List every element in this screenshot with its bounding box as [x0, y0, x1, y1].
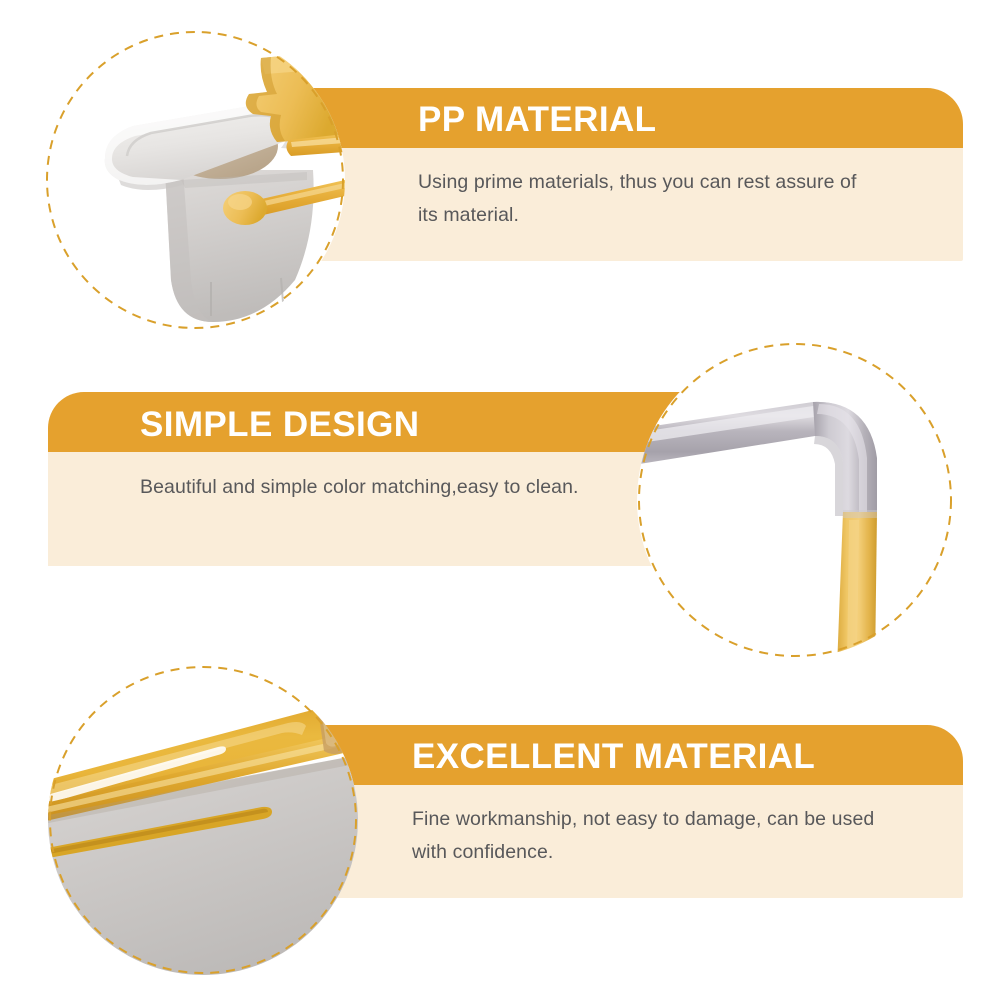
feature-title-excellent-material: EXCELLENT MATERIAL [412, 739, 815, 774]
photo-clip-mask [48, 665, 358, 975]
feature-description-simple-design: Beautiful and simple color matching,easy… [140, 471, 580, 504]
photo-clip-mask [45, 30, 345, 330]
product-photo-yellow-grey-edge [48, 665, 358, 975]
infographic-canvas: PP MATERIAL Using prime materials, thus … [0, 0, 1002, 1002]
feature-title-pp-material: PP MATERIAL [418, 102, 656, 137]
feature-description-pp-material: Using prime materials, thus you can rest… [418, 166, 873, 232]
product-illustration-tray-hook [45, 30, 345, 330]
photo-clip-mask [637, 342, 953, 658]
feature-description-excellent-material: Fine workmanship, not easy to damage, ca… [412, 803, 902, 869]
product-illustration-yellow-grey-edge [48, 665, 358, 975]
product-photo-bent-rod [637, 342, 953, 658]
product-photo-tray-hook [45, 30, 345, 330]
feature-title-simple-design: SIMPLE DESIGN [140, 407, 419, 442]
product-illustration-bent-rod [637, 342, 953, 658]
panel-body-area [48, 452, 703, 566]
